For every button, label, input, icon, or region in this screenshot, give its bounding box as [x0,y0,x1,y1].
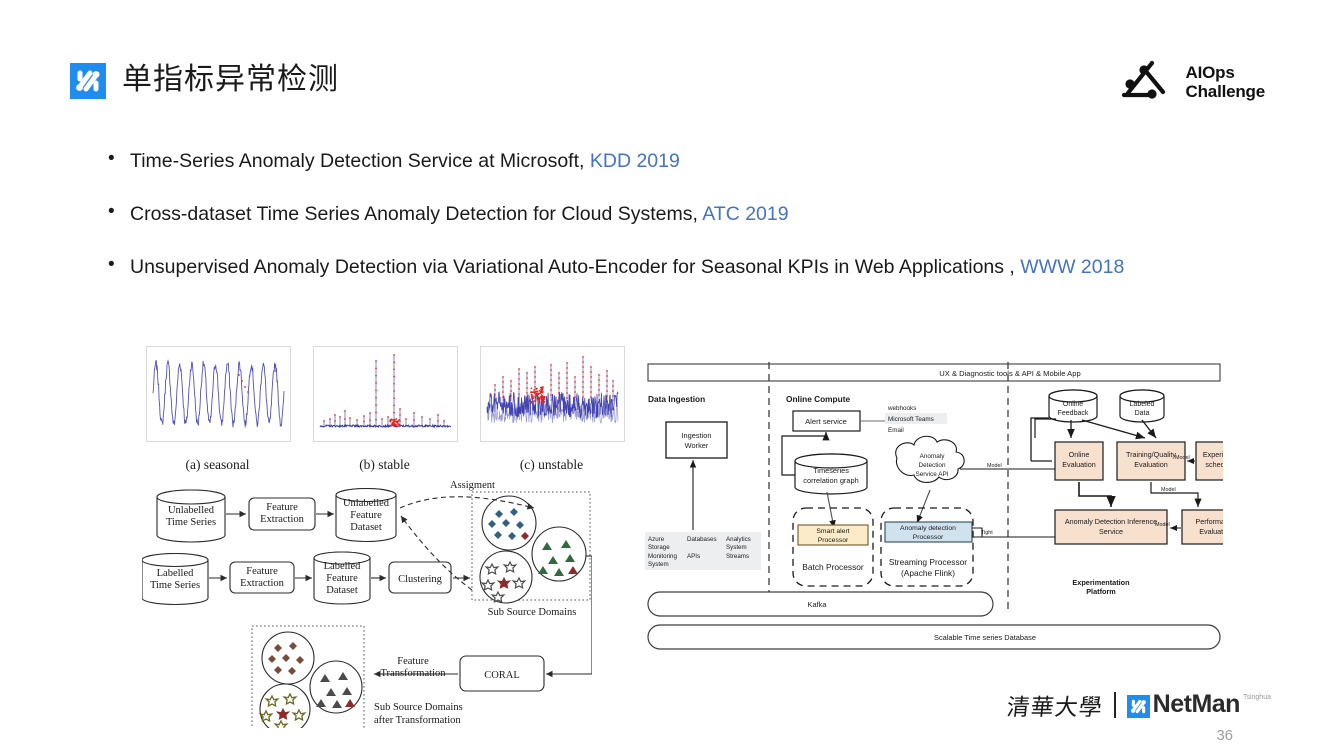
arrow-label-tight: Tight [981,530,993,536]
label-labelled-time-series-2: Time Series [150,580,200,591]
node-unlabelled-time-series [157,490,225,542]
connector-feedback-to-online-eval [1035,419,1056,438]
label-labelled-feature-dataset-2: Feature [326,573,358,584]
label-training-eval-2: Evaluation [1134,460,1168,469]
source-apis: APIs [687,553,700,560]
label-scalable-db: Scalable Time series Database [934,633,1036,642]
cluster-stars-transformed [260,684,310,728]
label-assigment: Assigment [450,480,495,491]
label-clustering: Clustering [398,574,442,585]
label-online-feedback-1: Online [1063,401,1083,408]
arrow-labeled-to-training [1142,420,1156,438]
bullet-text: Unsupervised Anomaly Detection via Varia… [130,252,1124,282]
label-feature-extraction-1: Feature [266,502,298,513]
list-item: • Cross-dataset Time Series Anomaly Dete… [108,199,1198,229]
label-microsoft-teams: Microsoft Teams [888,416,934,423]
label-ingestion-worker-1: Ingestion [682,431,712,440]
arrow-cloud-to-processor [917,490,930,523]
slide-number: 36 [1216,727,1233,744]
plot-area-stable [313,346,458,442]
label-cloud-api-2: Detection [919,462,946,469]
arrow-feedback-to-training [1082,420,1145,438]
node-labelled-time-series [142,554,208,605]
source-analytics-2: System [726,544,747,551]
label-feature-transformation-2: Transformation [381,668,447,679]
venue-link[interactable]: WWW 2018 [1020,256,1124,278]
arrow-training-to-perf [1151,482,1198,507]
label-unlabelled-feature-dataset-3: Dataset [350,522,382,533]
label-kafka: Kafka [808,600,828,609]
label-labeled-data-1: Labeled [1130,401,1155,408]
label-labelled-time-series: Labelled [157,568,194,579]
bullet-marker: • [108,252,130,282]
source-analytics-1: Analytics [726,536,751,543]
panel-caption: (c) unstable [480,457,623,473]
label-cloud-api-3: Service API [915,471,948,478]
bullet-text: Cross-dataset Time Series Anomaly Detect… [130,199,789,229]
label-email: Email [888,427,904,434]
timeseries-panel-seasonal: (a) seasonal [146,346,289,473]
label-experimentation-2: Platform [1086,587,1116,596]
architecture-diagram: UX & Diagnostic tools & API & Mobile App… [645,360,1223,655]
label-perf-eval-1: Performance [1195,517,1223,526]
bullet-list: • Time-Series Anomaly Detection Service … [108,146,1198,305]
page-title: 单指标异常检测 [122,60,339,100]
group-batch-processor [793,508,873,586]
bullet-text: Time-Series Anomaly Detection Service at… [130,146,680,176]
bullet-marker: • [108,199,130,229]
panel-caption: (a) seasonal [146,457,289,473]
label-online-evaluation-1: Online [1069,450,1090,459]
plot-area-seasonal [146,346,291,442]
label-cloud-api-1: Anomaly [920,453,946,460]
label-experimentation-1: Experimentation [1072,578,1129,587]
label-sub-source-domains: Sub Source Domains [488,607,577,618]
netman-superscript: Tsinghua [1243,694,1271,702]
arrow-label-model-1: Model [987,463,1002,469]
bullet-body: Cross-dataset Time Series Anomaly Detect… [130,203,702,225]
node-ingestion-worker [666,422,727,458]
label-sub-source-domains-after: Sub Source Domains [374,702,463,713]
arrow-online-eval-to-inference [1079,482,1111,507]
label-streaming-processor-2: (Apache Flink) [901,568,955,578]
label-feature-extraction-2: Feature [246,566,278,577]
bullet-marker: • [108,146,130,176]
label-batch-processor: Batch Processor [802,562,864,572]
footer-logos: 清華大學 NetMan Tsinghua [1007,688,1271,722]
aiops-triangle-nodes-icon [1118,57,1176,106]
netman-logo: NetMan Tsinghua [1127,692,1271,718]
cluster-stars [480,551,532,603]
label-after-transformation: after Transformation [374,715,461,726]
panel-caption: (b) stable [313,457,456,473]
list-item: • Time-Series Anomaly Detection Service … [108,146,1198,176]
label-correlation-graph-2: correlation graph [803,476,858,485]
label-anomaly-proc-1: Anomaly detection [900,525,956,532]
label-online-feedback-2: Feedback [1058,410,1089,417]
label-online-compute: Online Compute [786,394,850,404]
label-unlabelled-time-series-2: Time Series [166,517,216,528]
timeseries-panel-stable: (b) stable [313,346,456,473]
label-streaming-processor-1: Streaming Processor [889,557,967,567]
label-alert-service: Alert service [805,417,847,426]
arrow-graph-to-smart-alert [827,492,834,528]
aiops-wordmark: AIOps Challenge [1186,63,1265,101]
label-experiment-scheduler-2: scheduler [1205,460,1223,469]
netman-n-mark-icon [1127,695,1150,718]
source-streams: Streams [726,553,749,560]
tsinghua-calligraphy-logo: 清華大學 [1005,688,1105,722]
label-training-eval-1: Training/Quality [1126,450,1176,459]
label-experiment-scheduler-1: Experiment [1203,450,1223,459]
label-data-ingestion: Data Ingestion [648,394,705,404]
netman-wordmark: NetMan [1153,692,1240,717]
label-unlabelled-feature-dataset: Unlabelled [343,498,390,509]
aiops-line2: Challenge [1186,82,1265,101]
bullet-body: Unsupervised Anomaly Detection via Varia… [130,256,1020,278]
aiops-challenge-logo: AIOps Challenge [1118,57,1265,106]
arrow-label-model-2: Model [1175,455,1190,461]
label-coral: CORAL [484,670,520,681]
label-labelled-feature-dataset: Labelled [324,561,361,572]
venue-link[interactable]: ATC 2019 [702,203,788,225]
source-azure-storage-1: Azure [648,536,665,543]
aiops-line1: AIOps [1186,63,1265,82]
label-top-bar: UX & Diagnostic tools & API & Mobile App [939,369,1080,378]
label-online-evaluation-2: Evaluation [1062,460,1096,469]
label-feature-transformation: Feature [397,656,429,667]
label-anomaly-proc-2: Processor [913,534,944,541]
source-monitoring-2: System [648,561,669,568]
connector-feedback-left [1031,418,1049,440]
label-ingestion-worker-2: Worker [685,441,709,450]
timeseries-figure: (a) seasonal (b) stable (c) unstable [146,346,623,473]
arrow-label-model-3: Model [1155,522,1170,528]
label-unlabelled-time-series: Unlabelled [168,505,215,516]
timeseries-panel-unstable: (c) unstable [480,346,623,473]
label-webhooks: webhooks [887,405,916,412]
label-feature-extraction-2b: Extraction [240,578,284,589]
source-monitoring-1: Monitoring [648,553,677,560]
netman-n-mark-icon [70,63,106,99]
label-perf-eval-2: Evaluation [1199,527,1223,536]
label-labelled-feature-dataset-3: Dataset [326,585,358,596]
label-feature-extraction-1b: Extraction [260,514,304,525]
arrow-label-model-4: Model [1161,487,1176,493]
source-azure-storage-2: Storage [648,544,670,551]
label-inference-2: Service [1099,527,1123,536]
label-smart-alert-1: Smart alert [816,528,849,535]
footer-divider [1114,692,1116,718]
label-correlation-graph-1: Timeseries [813,466,849,475]
coral-pipeline-diagram: Unlabelled Time Series Feature Extractio… [142,478,592,728]
source-databases: Databases [687,536,717,543]
bullet-body: Time-Series Anomaly Detection Service at… [130,150,590,172]
plot-area-unstable [480,346,625,442]
venue-link[interactable]: KDD 2019 [590,150,680,172]
label-labeled-data-2: Data [1135,410,1150,417]
label-unlabelled-feature-dataset-2: Feature [350,510,382,521]
top-bar-ux [648,364,1220,381]
list-item: • Unsupervised Anomaly Detection via Var… [108,252,1198,282]
label-smart-alert-2: Processor [818,537,849,544]
label-inference-1: Anomaly Detection Inference [1065,517,1157,526]
